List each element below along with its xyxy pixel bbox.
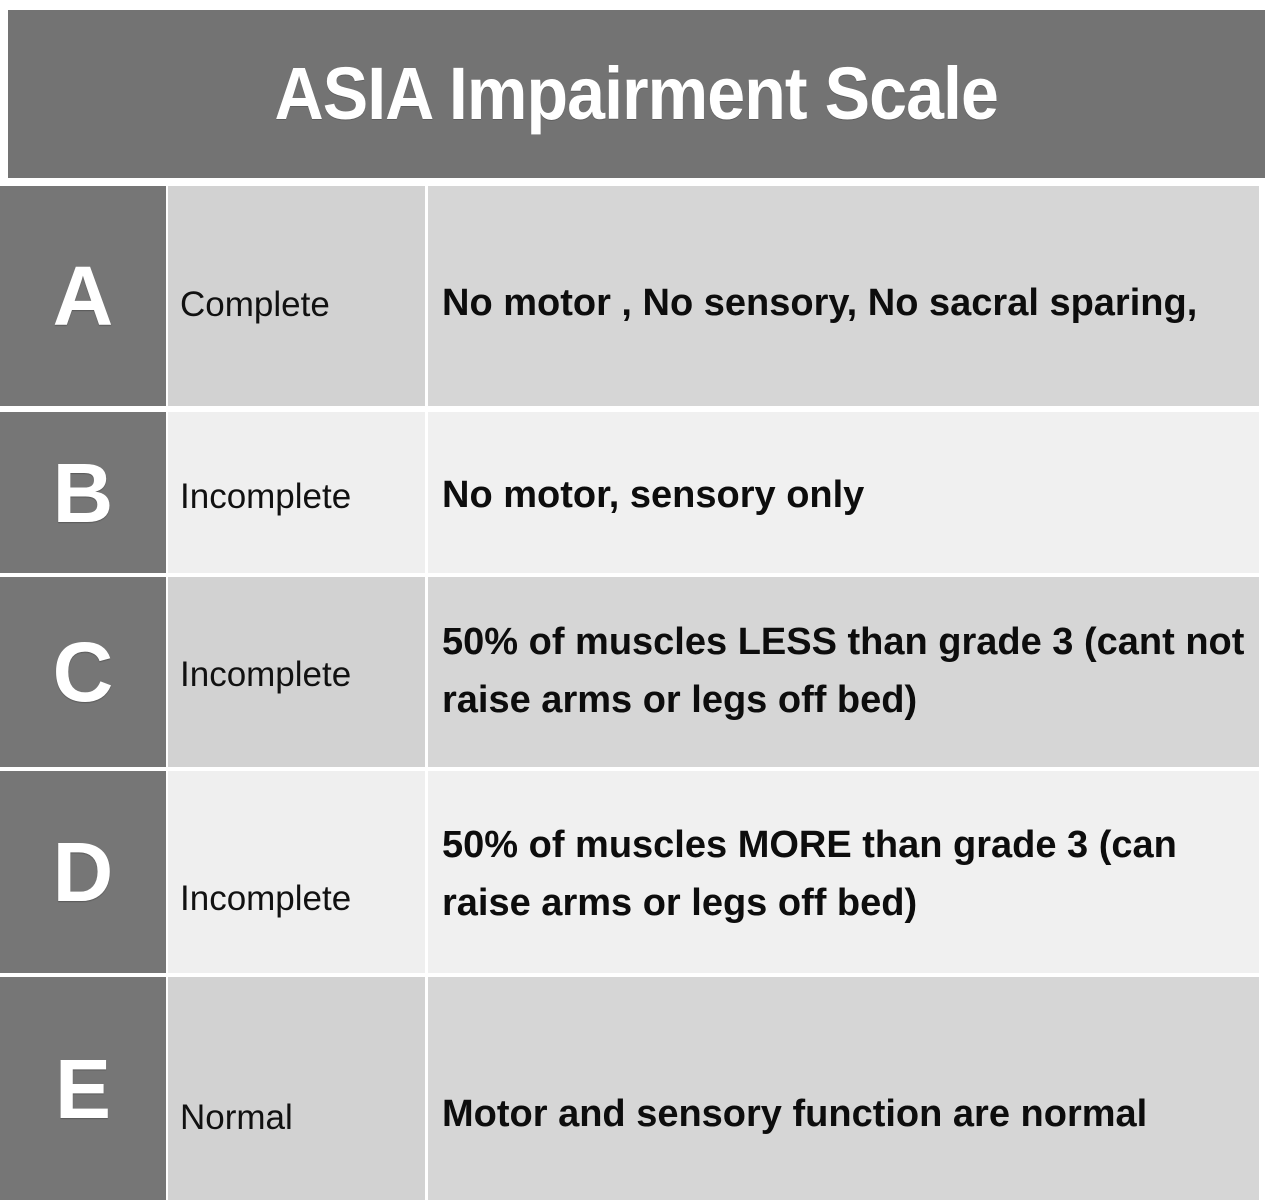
- completeness-cell: Incomplete: [166, 577, 428, 767]
- table-row: B Incomplete No motor, sensory only: [0, 412, 1268, 573]
- grade-letter-cell: A: [0, 186, 166, 406]
- description-text: No motor, sensory only: [442, 467, 864, 525]
- description-text: Motor and sensory function are normal: [442, 1086, 1147, 1144]
- grade-letter-cell: B: [0, 412, 166, 573]
- description-cell: 50% of muscles LESS than grade 3 (cant n…: [428, 577, 1268, 767]
- grade-letter-cell: E: [0, 977, 166, 1200]
- completeness-cell: Normal: [166, 977, 428, 1200]
- table-row: E Normal Motor and sensory function are …: [0, 977, 1268, 1200]
- grade-letter-cell: C: [0, 577, 166, 767]
- title-banner: ASIA Impairment Scale: [8, 10, 1265, 178]
- description-text: 50% of muscles MORE than grade 3 (can ra…: [442, 817, 1249, 933]
- description-cell: 50% of muscles MORE than grade 3 (can ra…: [428, 771, 1268, 973]
- description-text: No motor , No sensory, No sacral sparing…: [442, 275, 1197, 333]
- description-text: 50% of muscles LESS than grade 3 (cant n…: [442, 614, 1249, 730]
- grade-letter-cell: D: [0, 771, 166, 973]
- completeness-cell: Incomplete: [166, 771, 428, 973]
- table-row: A Complete No motor , No sensory, No sac…: [0, 186, 1268, 406]
- description-cell: No motor, sensory only: [428, 412, 1268, 573]
- completeness-cell: Incomplete: [166, 412, 428, 573]
- asia-impairment-scale-page: ASIA Impairment Scale A Complete No moto…: [0, 0, 1273, 1200]
- page-title: ASIA Impairment Scale: [275, 57, 999, 131]
- table-row: D Incomplete 50% of muscles MORE than gr…: [0, 771, 1268, 973]
- impairment-scale-table: A Complete No motor , No sensory, No sac…: [0, 186, 1268, 1200]
- completeness-cell: Complete: [166, 186, 428, 406]
- table-row: C Incomplete 50% of muscles LESS than gr…: [0, 577, 1268, 767]
- description-cell: No motor , No sensory, No sacral sparing…: [428, 186, 1268, 406]
- description-cell: Motor and sensory function are normal: [428, 977, 1268, 1200]
